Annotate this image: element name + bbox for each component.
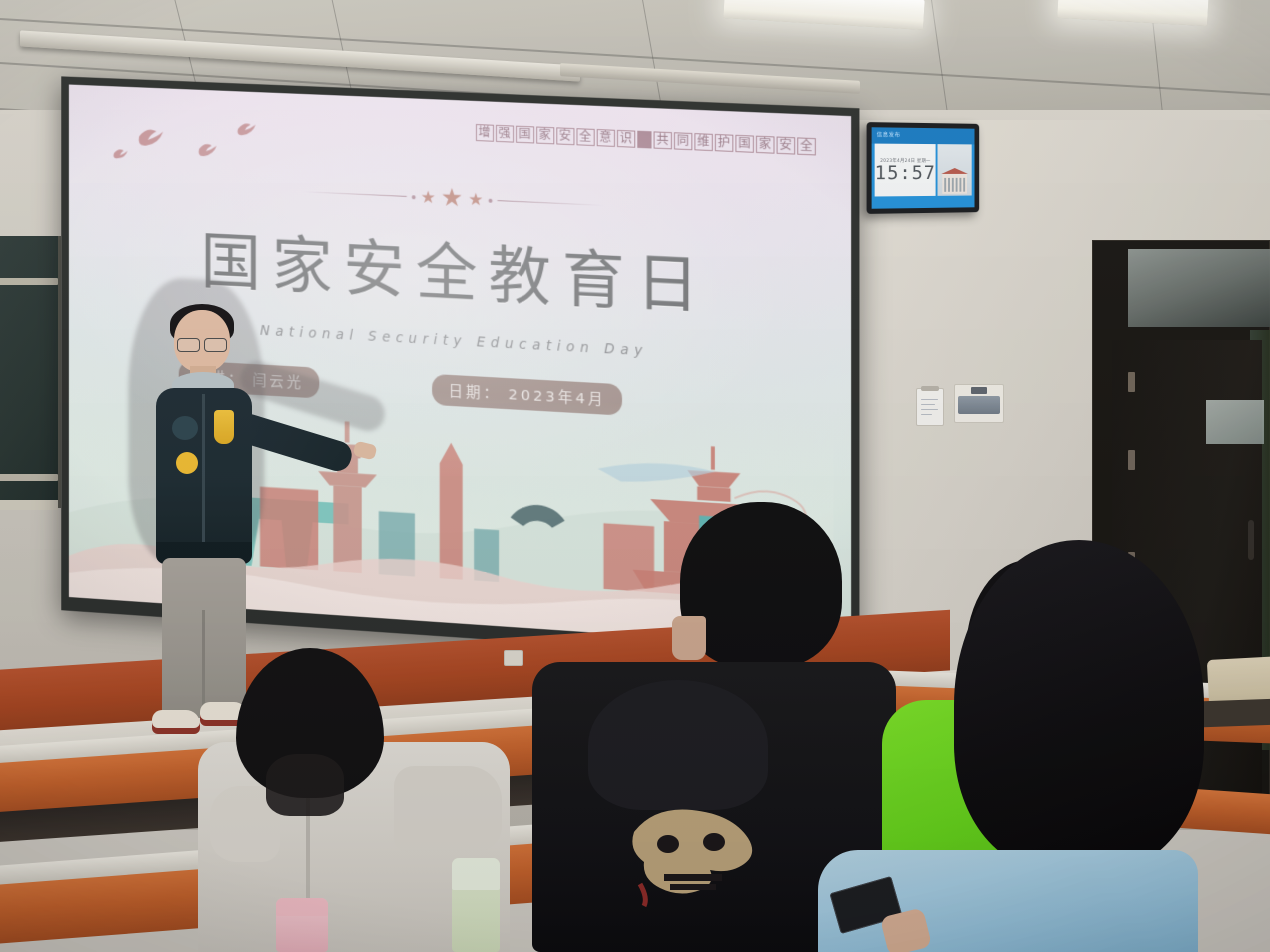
banner-char-6: 意	[596, 129, 614, 147]
banner-char-1: 强	[496, 125, 514, 143]
star-icon-large: ★	[441, 186, 463, 212]
door-hinge-top	[1128, 372, 1135, 392]
presenter-shoe-left	[152, 710, 200, 734]
banner-char-11: 维	[694, 133, 712, 151]
building-photo-icon	[940, 166, 968, 194]
thermos-pink-cap	[276, 898, 328, 916]
banner-char-8	[637, 131, 651, 149]
banner-char-16: 全	[797, 137, 816, 155]
student-white-jacket-hair-strand	[266, 754, 344, 816]
banner-char-4: 安	[556, 127, 574, 145]
hoodie-patch-yellow-lower	[176, 452, 198, 474]
glasses-icon	[177, 338, 227, 350]
av-control-panel[interactable]	[954, 384, 1004, 423]
display-photo	[938, 144, 972, 196]
door-vision-panel	[1206, 400, 1264, 444]
door-hinge-mid	[1128, 450, 1135, 470]
divider-line-left	[303, 191, 407, 197]
student-ear-left	[672, 616, 706, 660]
blackboard	[0, 236, 61, 508]
banner-char-10: 同	[674, 132, 692, 150]
skull-graphic-print	[610, 798, 780, 908]
banner-char-7: 识	[617, 130, 635, 148]
thermos-pink	[276, 898, 328, 952]
display-clock-card: 2023年4月24日 星期一 15:57	[875, 144, 936, 197]
star-icon-small-left: ★	[421, 189, 436, 207]
display-header: 信息发布	[872, 127, 975, 144]
classroom-scene: 增强国家安全意识共同维护国家安全 ★ ★ ★ 国家安全教育日 National …	[0, 0, 1270, 952]
banner-char-9: 共	[653, 131, 671, 149]
display-screen: 信息发布 2023年4月24日 星期一 15:57	[872, 127, 975, 208]
thermos-green	[452, 858, 500, 952]
hoodie-zipper	[202, 394, 205, 550]
display-clock: 15:57	[875, 163, 936, 182]
hoodie-hood	[588, 680, 768, 810]
panel-lid[interactable]	[958, 396, 1000, 414]
banner-char-15: 安	[776, 137, 795, 155]
hoodie-patch-yellow-upper	[214, 410, 234, 444]
jacket-sleeve-right	[394, 766, 502, 852]
student-blue-fleece-hair	[954, 540, 1204, 870]
banner-char-3: 家	[536, 126, 554, 144]
banner-char-2: 国	[516, 126, 534, 144]
panel-label	[971, 387, 987, 394]
hoodie-patch-chest-left	[172, 416, 198, 440]
birds-illustration-icon	[107, 112, 282, 189]
banner-char-13: 国	[735, 135, 754, 153]
divider-dot-right	[488, 198, 492, 202]
banner-char-14: 家	[756, 136, 775, 154]
wall-info-display[interactable]: 信息发布 2023年4月24日 星期一 15:57	[867, 122, 980, 214]
divider-line-right	[497, 200, 603, 206]
divider-dot-left	[412, 195, 416, 199]
banner-char-0: 增	[475, 124, 493, 142]
notice-clipboard	[916, 388, 944, 426]
chalk-tray	[0, 500, 58, 510]
star-icon-small-right: ★	[468, 191, 483, 209]
thermos-green-cap	[452, 858, 500, 890]
wall-outlet[interactable]	[504, 650, 523, 666]
banner-char-12: 护	[715, 134, 733, 152]
door-transom-window	[1128, 249, 1270, 327]
student-blue-fleece	[930, 540, 1270, 952]
banner-char-5: 全	[576, 128, 594, 146]
